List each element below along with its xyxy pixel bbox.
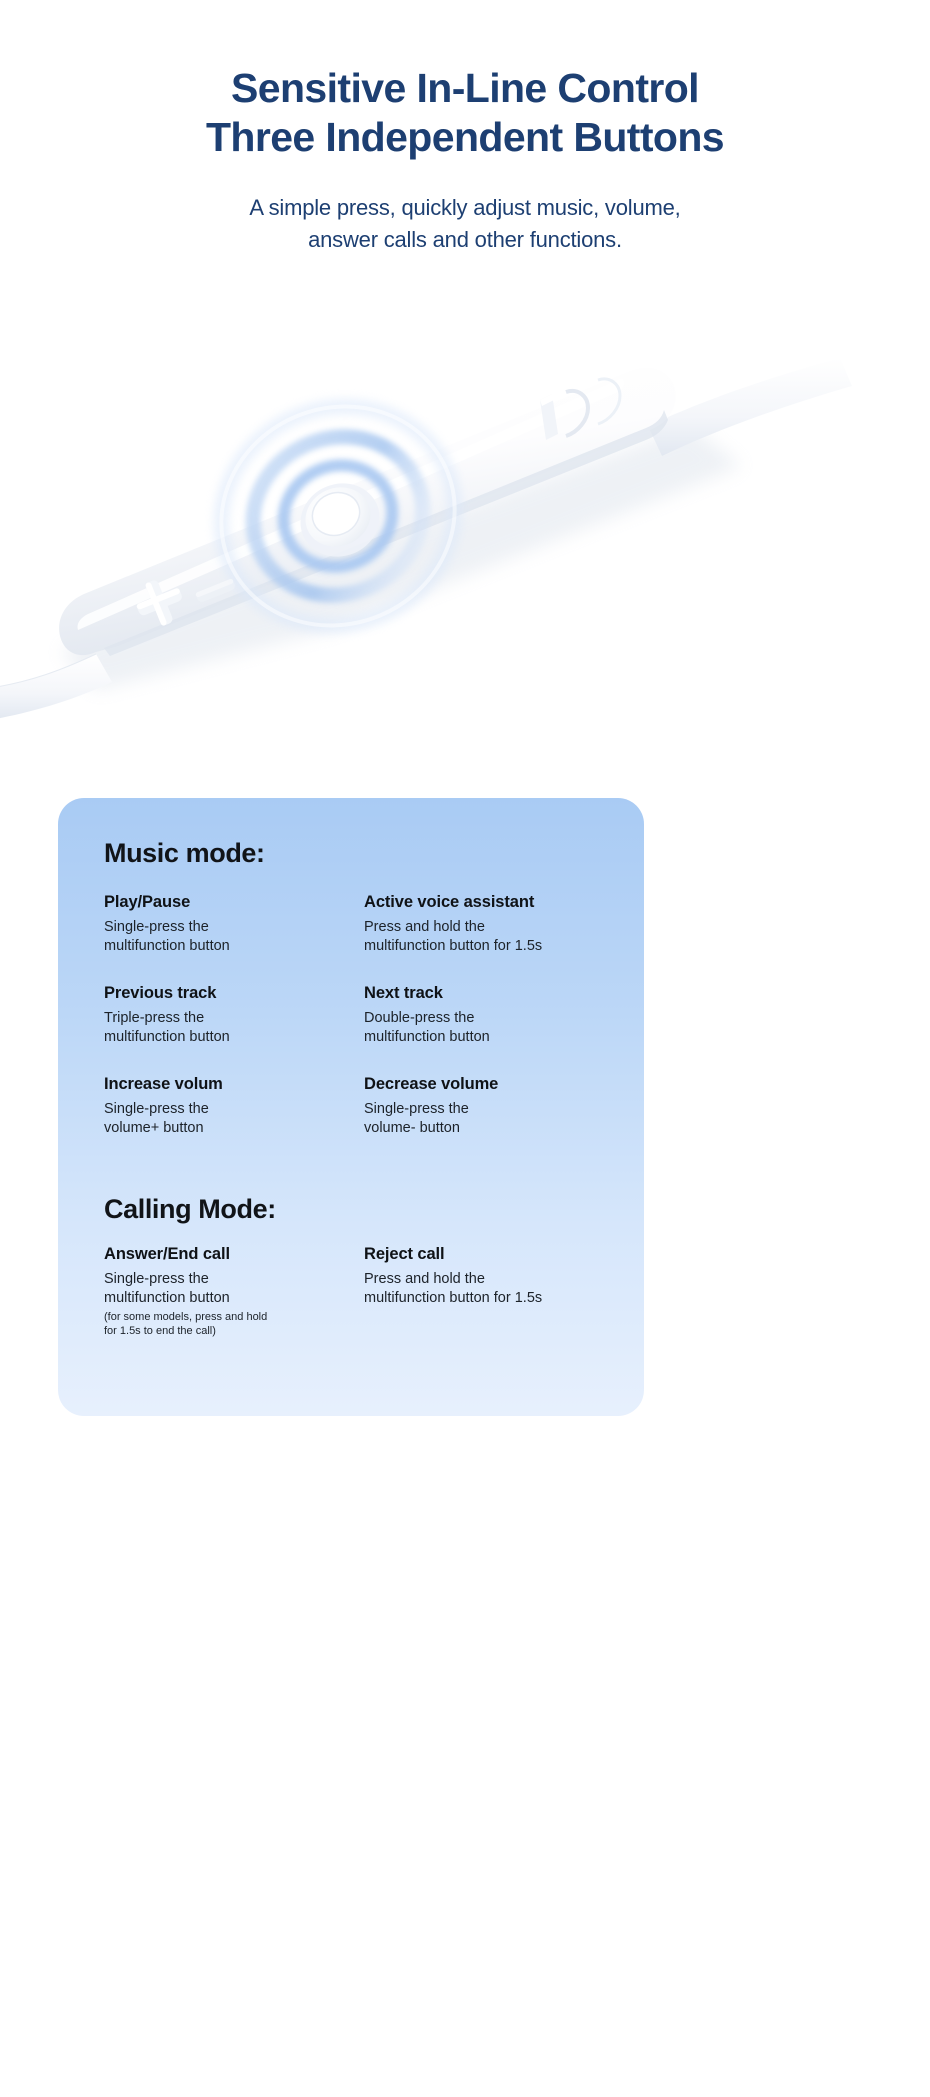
guide-item-desc: Single-press themultifunction button: [104, 1270, 348, 1308]
guide-item-note: (for some models, press and holdfor 1.5s…: [104, 1310, 348, 1338]
guide-item-desc: Press and hold themultifunction button f…: [364, 918, 598, 956]
page-title: Sensitive In-Line Control Three Independ…: [0, 64, 930, 162]
calling-mode-grid: Answer/End call Single-press themultifun…: [104, 1243, 598, 1338]
guide-item-reject-call: Reject call Press and hold themultifunct…: [354, 1243, 598, 1338]
music-mode-grid: Play/Pause Single-press themultifunction…: [104, 891, 598, 1164]
calling-mode-heading: Calling Mode:: [104, 1194, 598, 1225]
guide-item-desc: Double-press themultifunction button: [364, 1009, 598, 1047]
guide-item-desc: Single-press thevolume- button: [364, 1100, 598, 1138]
page-subtitle: A simple press, quickly adjust music, vo…: [0, 192, 930, 256]
guide-item-desc: Press and hold themultifunction button f…: [364, 1270, 598, 1308]
guide-item-previous-track: Previous track Triple-press themultifunc…: [104, 982, 348, 1073]
page-title-line-2: Three Independent Buttons: [0, 113, 930, 162]
guide-item-title: Next track: [364, 982, 598, 1004]
guide-item-next-track: Next track Double-press themultifunction…: [354, 982, 598, 1073]
control-guide-card: Music mode: Play/Pause Single-press them…: [58, 798, 644, 1416]
inline-control-illustration: [0, 330, 930, 790]
page-title-line-1: Sensitive In-Line Control: [0, 64, 930, 113]
page-subtitle-line-2: answer calls and other functions.: [0, 224, 930, 256]
guide-item-answer-end-call: Answer/End call Single-press themultifun…: [104, 1243, 348, 1338]
guide-item-title: Decrease volume: [364, 1073, 598, 1095]
guide-item-play-pause: Play/Pause Single-press themultifunction…: [104, 891, 348, 982]
guide-item-decrease-volume: Decrease volume Single-press thevolume- …: [354, 1073, 598, 1164]
cable-left: [0, 654, 112, 720]
page-subtitle-line-1: A simple press, quickly adjust music, vo…: [0, 192, 930, 224]
guide-item-title: Previous track: [104, 982, 348, 1004]
music-mode-heading: Music mode:: [104, 838, 598, 869]
guide-item-desc: Triple-press themultifunction button: [104, 1009, 348, 1047]
cable-right: [648, 358, 852, 456]
guide-item-voice-assistant: Active voice assistant Press and hold th…: [354, 891, 598, 982]
guide-item-title: Increase volum: [104, 1073, 348, 1095]
guide-item-increase-volume: Increase volum Single-press thevolume+ b…: [104, 1073, 348, 1164]
guide-item-title: Reject call: [364, 1243, 598, 1265]
page-header: Sensitive In-Line Control Three Independ…: [0, 0, 930, 256]
guide-item-title: Play/Pause: [104, 891, 348, 913]
guide-item-desc: Single-press thevolume+ button: [104, 1100, 348, 1138]
guide-item-title: Answer/End call: [104, 1243, 348, 1265]
product-hero-image: [0, 330, 930, 790]
guide-item-title: Active voice assistant: [364, 891, 598, 913]
guide-item-desc: Single-press themultifunction button: [104, 918, 348, 956]
